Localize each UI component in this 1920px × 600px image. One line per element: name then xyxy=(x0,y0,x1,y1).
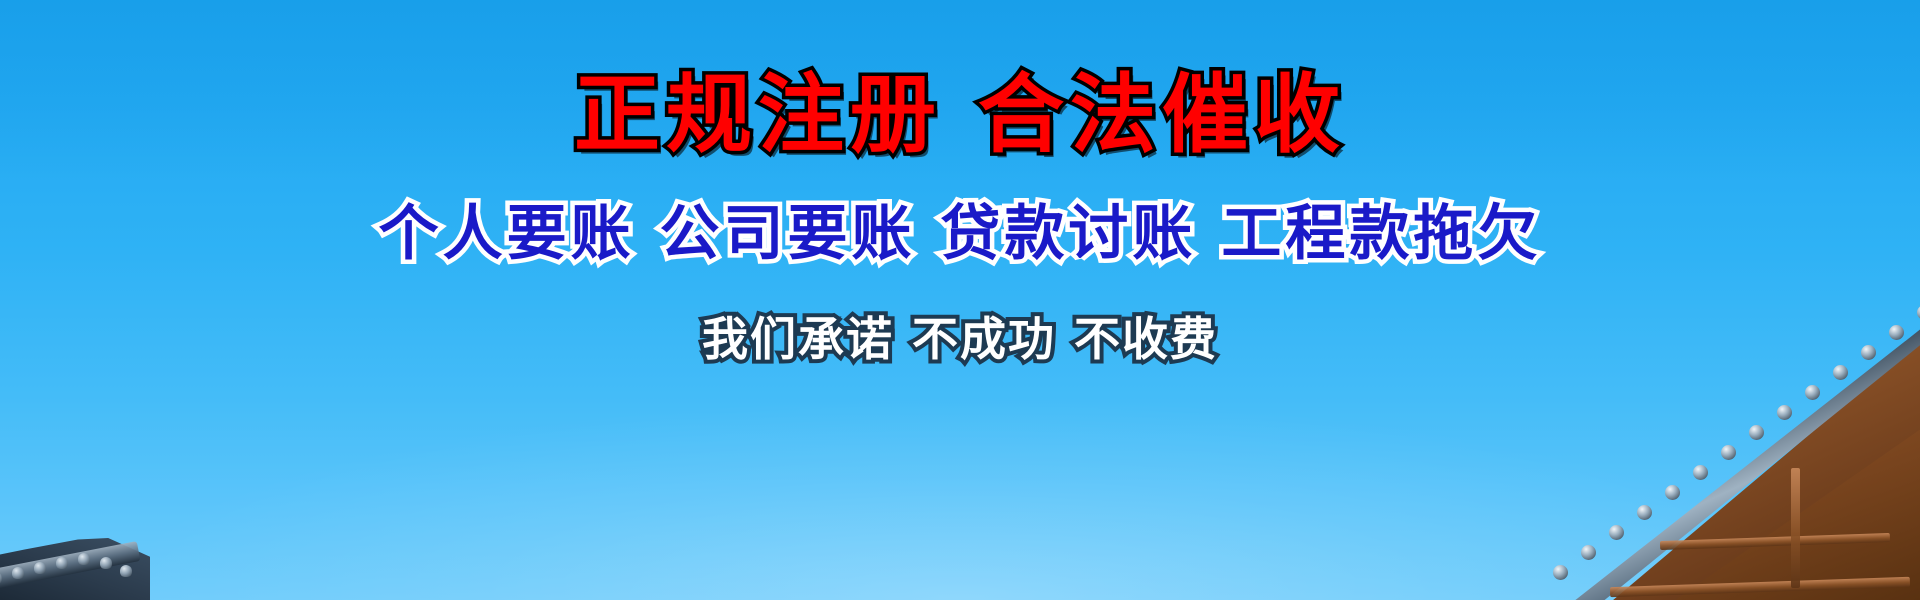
banner-text-stack: 正规注册 合法催收 个人要账 公司要账 贷款讨账 工程款拖欠 我们承诺 不成功 … xyxy=(0,0,1920,600)
promotional-banner: 正规注册 合法催收 个人要账 公司要账 贷款讨账 工程款拖欠 我们承诺 不成功 … xyxy=(0,0,1920,600)
banner-service-list: 个人要账 公司要账 贷款讨账 工程款拖欠 xyxy=(379,204,1542,264)
banner-headline: 正规注册 合法催收 xyxy=(574,72,1346,158)
banner-promise-text: 我们承诺 不成功 不收费 xyxy=(702,316,1218,362)
